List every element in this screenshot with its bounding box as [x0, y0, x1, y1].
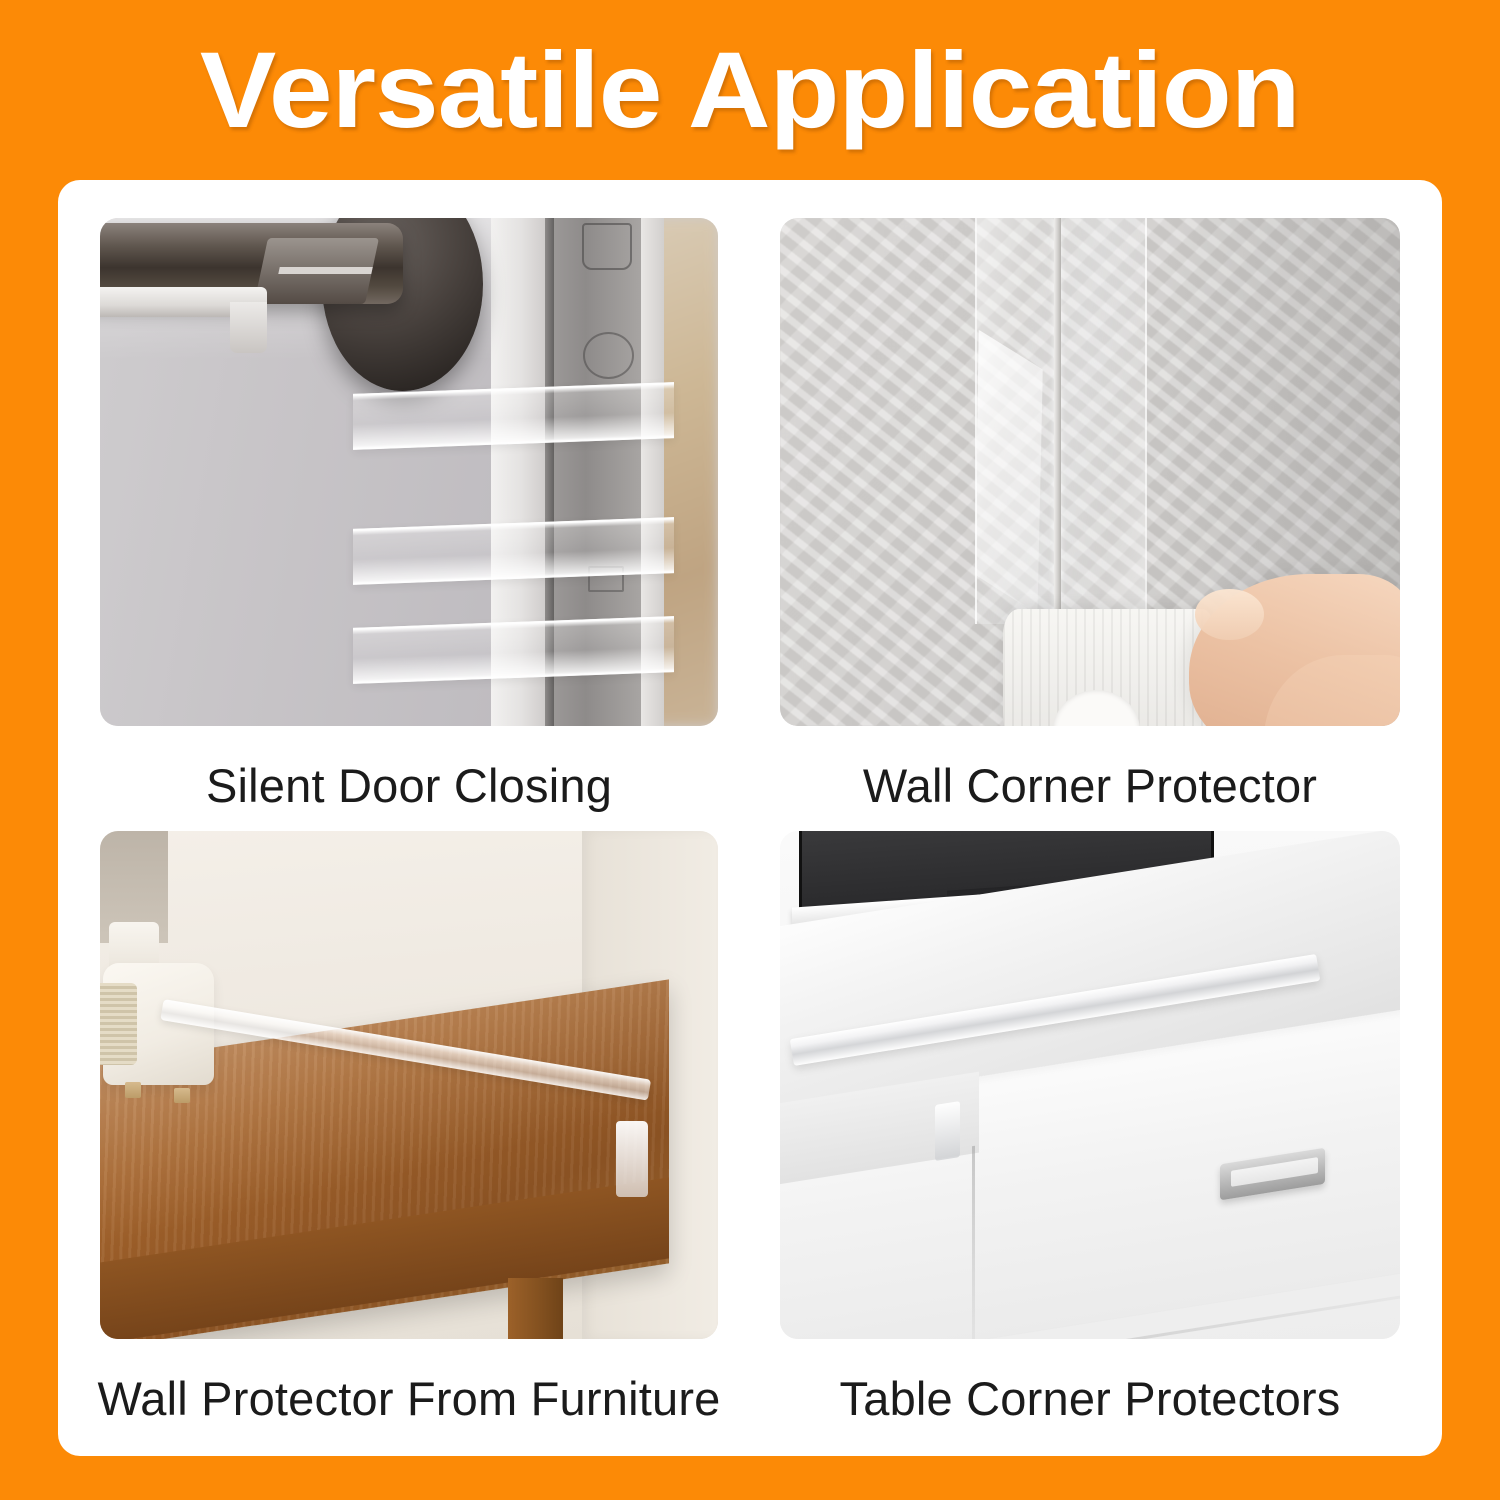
feature-cell-wall-corner-protector: Wall Corner Protector [780, 218, 1400, 831]
caption-table-corner-protectors: Table Corner Protectors [780, 1359, 1400, 1437]
clear-edge-protector-end [616, 1121, 648, 1197]
humidifier-foot [125, 1082, 141, 1097]
cabinet-drawer-seam [972, 1146, 975, 1339]
wall-corner-edge [1054, 218, 1061, 624]
humidifier-foot [174, 1088, 190, 1103]
caption-wall-protector-from-furniture: Wall Protector From Furniture [100, 1359, 718, 1437]
door-latch-icon [582, 223, 632, 270]
feature-cell-table-corner-protectors: Table Corner Protectors [780, 831, 1400, 1437]
caption-silent-door-closing: Silent Door Closing [100, 746, 718, 824]
feature-grid: Silent Door Closing Wall Corner [100, 218, 1400, 1423]
photo-wall-corner-protector [780, 218, 1400, 726]
door-lever-slot [278, 267, 372, 274]
tape-peel-fold [975, 330, 1043, 614]
clear-protector-strip [353, 517, 674, 585]
door-keyhole-icon [583, 332, 634, 379]
feature-cell-wall-protector-from-furniture: Wall Protector From Furniture [100, 831, 718, 1437]
caption-wall-corner-protector: Wall Corner Protector [780, 746, 1400, 824]
poster-header: Versatile Application [0, 0, 1500, 180]
humidifier-grill [100, 983, 137, 1064]
wall-trim-tab [230, 302, 267, 353]
fingernail [1195, 589, 1263, 640]
clear-corner-protector-end [935, 1101, 960, 1161]
content-card: Silent Door Closing Wall Corner [58, 180, 1442, 1456]
photo-wall-protector-from-furniture [100, 831, 718, 1339]
feature-cell-silent-door-closing: Silent Door Closing [100, 218, 718, 831]
clear-protector-strip [353, 616, 674, 684]
photo-table-corner-protectors [780, 831, 1400, 1339]
desk-leg [508, 1278, 564, 1339]
product-infographic-poster: Versatile Application [0, 0, 1500, 1500]
photo-silent-door-closing [100, 218, 718, 726]
page-title: Versatile Application [200, 36, 1300, 144]
